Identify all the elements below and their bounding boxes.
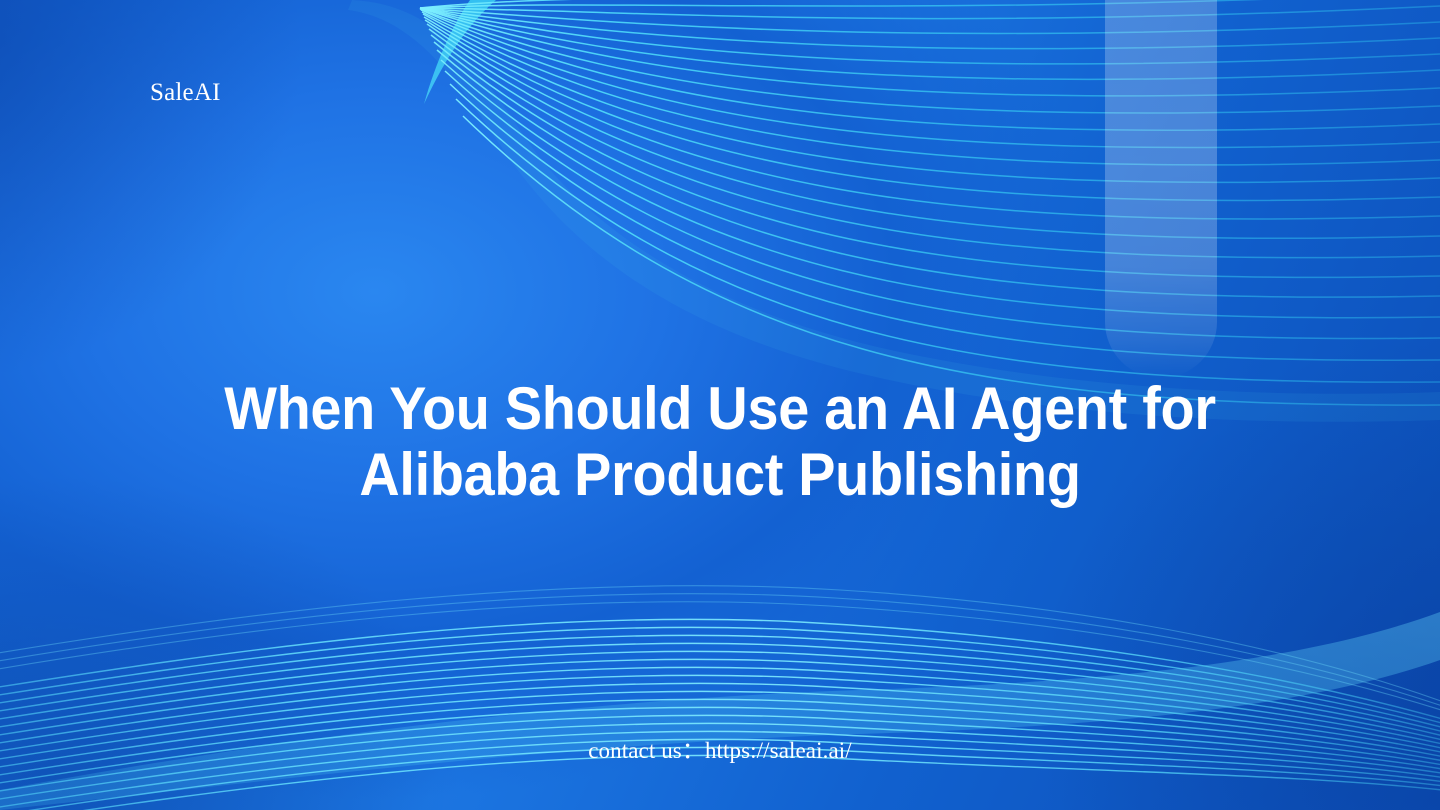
slide-title-line-2: Alibaba Product Publishing bbox=[50, 442, 1389, 508]
presentation-slide: SaleAI When You Should Use an AI Agent f… bbox=[0, 0, 1440, 810]
brand-logo[interactable]: SaleAI bbox=[150, 78, 221, 108]
slide-title: When You Should Use an AI Agent for Alib… bbox=[50, 376, 1389, 508]
translucent-vertical-bar bbox=[1105, 0, 1217, 378]
contact-footer[interactable]: contact us：https://saleai.ai/ bbox=[0, 731, 1440, 765]
slide-title-line-1: When You Should Use an AI Agent for bbox=[50, 376, 1389, 442]
